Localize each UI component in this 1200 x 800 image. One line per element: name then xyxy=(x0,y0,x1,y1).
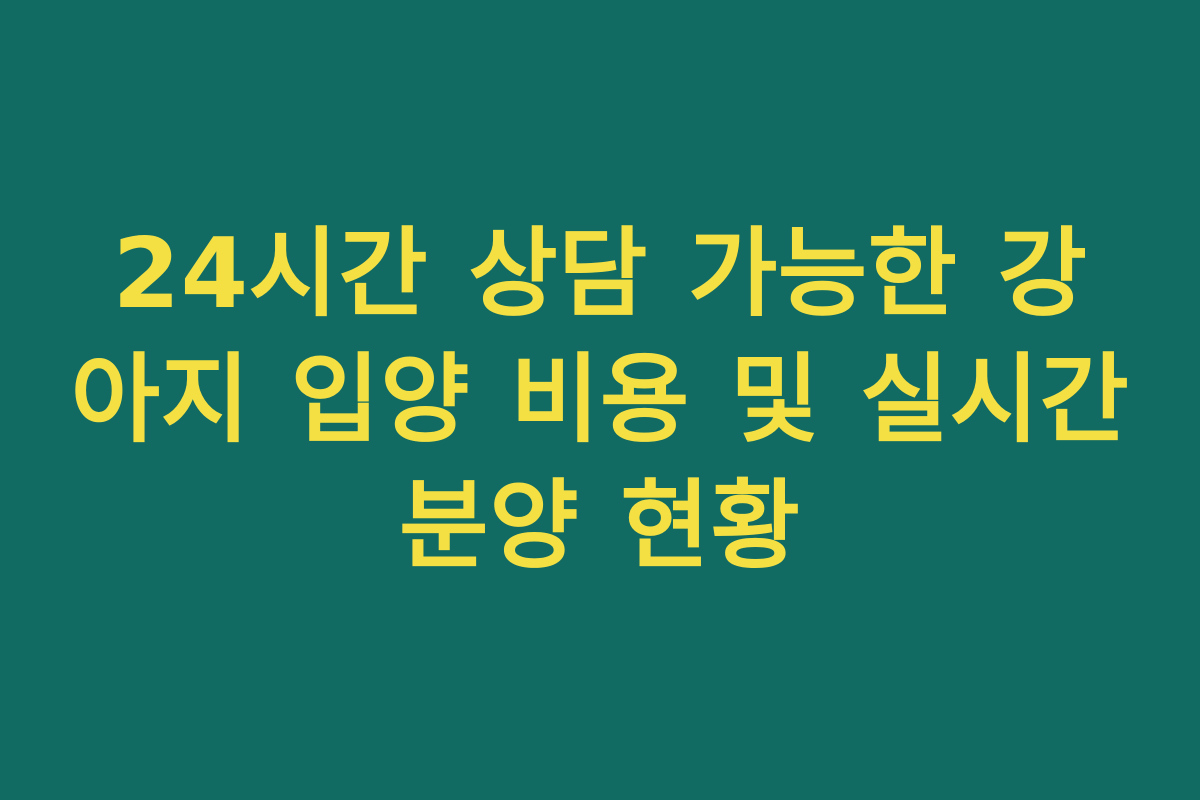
headline-line-1: 24시간 상담 가능한 강 xyxy=(70,211,1130,337)
headline-text: 24시간 상담 가능한 강 아지 입양 비용 및 실시간 분양 현황 xyxy=(70,211,1130,589)
headline-line-3: 분양 현황 xyxy=(70,463,1130,589)
banner-container: 24시간 상담 가능한 강 아지 입양 비용 및 실시간 분양 현황 xyxy=(0,0,1200,800)
headline-line-2: 아지 입양 비용 및 실시간 xyxy=(70,337,1130,463)
